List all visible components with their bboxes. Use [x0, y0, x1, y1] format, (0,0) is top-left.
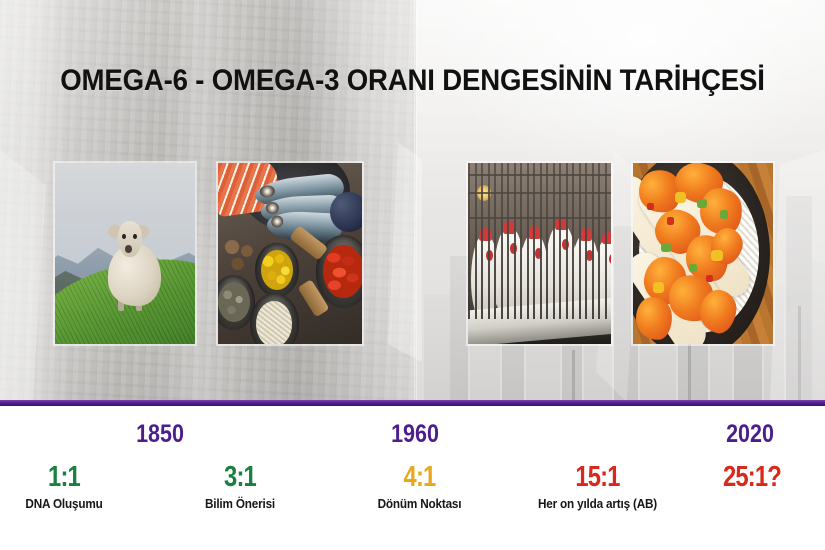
blueberries	[330, 192, 362, 232]
sheep-eye-left	[122, 234, 126, 240]
skyline-building-14	[812, 262, 825, 402]
veg-piece-8	[706, 275, 713, 282]
cage-bar-10	[533, 163, 535, 319]
cage-rail-2	[468, 217, 611, 219]
ratio-caption: Her on yılda artış (AB)	[525, 497, 671, 511]
veg-piece-2	[661, 243, 671, 252]
cage-bar-15	[566, 163, 568, 319]
cage-bar-17	[579, 163, 581, 319]
veg-piece-6	[653, 282, 664, 293]
ratio-caption: Dönüm Noktası	[361, 497, 479, 511]
skyline-building-0	[424, 294, 450, 402]
photo-sweet-sour-chicken-rice	[633, 163, 773, 344]
cage-bar-1	[475, 163, 477, 319]
photo-sheep-on-hillside	[55, 163, 195, 344]
cage-bar-16	[572, 163, 574, 319]
skyline-spire-1	[798, 306, 801, 402]
ratio-caption: Bilim Önerisi	[184, 497, 297, 511]
cage-bar-2	[481, 163, 483, 319]
ratio-value: 1:1	[15, 462, 113, 492]
cage-bar-14	[559, 163, 561, 319]
ratio-value: 4:1	[368, 462, 471, 492]
timeline-ratio-points: 1:1DNA Oluşumu3:1Bilim Önerisi4:1Dönüm N…	[0, 406, 825, 550]
cage-rail-1	[468, 192, 611, 194]
cage-bar-8	[520, 163, 522, 319]
photo-caged-battery-hens	[468, 163, 611, 344]
page-title: OMEGA-6 - OMEGA-3 ORANI DENGESİNİN TARİH…	[33, 64, 792, 98]
ratio-value: 15:1	[534, 462, 661, 492]
cage-bar-4	[494, 163, 496, 319]
timeline-point-11: 1:1DNA Oluşumu	[4, 462, 124, 511]
hero-scene: OMEGA-6 - OMEGA-3 ORANI DENGESİNİN TARİH…	[0, 0, 825, 402]
ratio-caption: DNA Oluşumu	[8, 497, 121, 511]
cage-bar-9	[527, 163, 529, 319]
sheep-muzzle	[125, 245, 132, 252]
veg-piece-1	[720, 210, 728, 219]
timeline-point-41: 4:1Dönüm Noktası	[357, 462, 482, 511]
veg-piece-4	[675, 192, 686, 203]
sheep-eye-right	[133, 234, 137, 240]
bowl-grains	[250, 293, 299, 344]
cage-bar-20	[598, 163, 600, 319]
photo-fish-and-superfoods	[218, 163, 362, 344]
cage-rail-0	[468, 174, 611, 176]
veg-piece-9	[647, 203, 654, 210]
veg-piece-7	[667, 217, 674, 224]
cage-bar-6	[507, 163, 509, 319]
cage-bar-13	[553, 163, 555, 319]
timeline-panel: 185019602020 1:1DNA Oluşumu3:1Bilim Öner…	[0, 406, 825, 550]
cage-bar-5	[501, 163, 503, 319]
cage-bar-7	[514, 163, 516, 319]
nuts-cluster	[221, 235, 258, 275]
skyline-building-1	[450, 256, 468, 402]
timeline-point-151: 15:1Her on yılda artış (AB)	[520, 462, 675, 511]
cage-bar-0	[468, 163, 470, 319]
infographic-poster: OMEGA-6 - OMEGA-3 ORANI DENGESİNİN TARİH…	[0, 0, 825, 550]
cage-bar-21	[605, 163, 607, 319]
skyline-spire-2	[572, 350, 575, 402]
ratio-value: 3:1	[191, 462, 289, 492]
ratio-value: 25:1?	[703, 462, 801, 492]
cage-bar-12	[546, 163, 548, 319]
cage-bar-18	[585, 163, 587, 319]
veg-piece-0	[697, 199, 707, 208]
veg-piece-3	[689, 264, 697, 271]
background-seam	[414, 0, 417, 402]
bowl-bee-pollen	[255, 243, 298, 297]
timeline-point-251: 25:1?	[692, 462, 812, 492]
veg-piece-5	[711, 250, 722, 261]
cage-bar-19	[592, 163, 594, 319]
cage-bar-11	[540, 163, 542, 319]
cage-bar-3	[488, 163, 490, 319]
timeline-point-31: 3:1Bilim Önerisi	[180, 462, 300, 511]
